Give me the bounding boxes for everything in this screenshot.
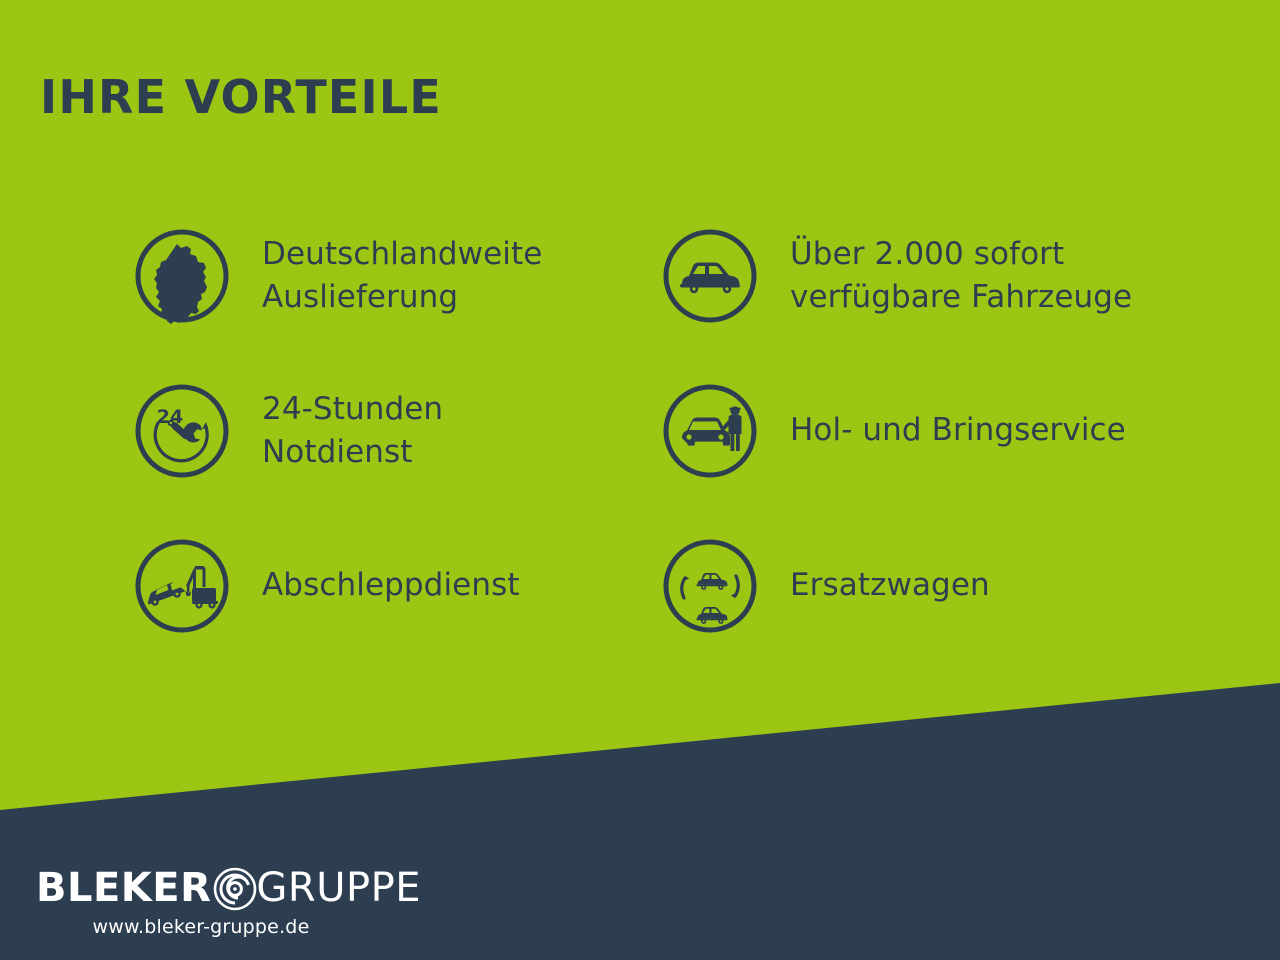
spiral-logo-icon [208,861,262,915]
car-side-icon [660,226,760,326]
slide-canvas: IHRE VORTEILE Deutschlandweite Ausliefer… [0,0,1280,960]
benefit-label-line-1: 24-Stunden [262,391,443,427]
benefit-label-line-1: Über 2.000 sofort [790,236,1064,272]
logo-wordmark: BLEKER GRUPPE [36,864,366,912]
benefit-item-24-stunden-notdienst: 24 24-Stunden Notdienst [132,353,632,508]
logo-primary-text: BLEKER [36,868,211,908]
benefit-label-line-1: Hol- und Bringservice [790,412,1126,448]
clock-24-wrench-icon: 24 [132,381,232,481]
benefit-label: Über 2.000 sofort verfügbare Fahrzeuge [790,233,1132,317]
benefit-label: 24-Stunden Notdienst [262,388,443,472]
car-front-person-icon [660,381,760,481]
two-cars-swap-icon [660,536,760,636]
benefit-label-line-1: Abschleppdienst [262,567,520,603]
benefit-label-line-2: Auslieferung [262,279,458,315]
logo-url[interactable]: www.bleker-gruppe.de [36,916,366,938]
logo-secondary-text: GRUPPE [256,868,421,908]
benefit-label: Abschleppdienst [262,564,520,606]
benefit-item-deutschlandweite-auslieferung: Deutschlandweite Auslieferung [132,198,632,353]
benefit-label-line-2: verfügbare Fahrzeuge [790,279,1132,315]
benefit-item-hol-und-bringservice: Hol- und Bringservice [660,353,1190,508]
benefit-label: Ersatzwagen [790,564,990,606]
benefit-item-abschleppdienst: Abschleppdienst [132,508,632,663]
benefit-label-line-1: Ersatzwagen [790,567,990,603]
benefit-label-line-2: Notdienst [262,434,413,470]
footer-logo[interactable]: BLEKER GRUPPE www.bleker-gruppe.de [36,864,366,938]
page-title: IHRE VORTEILE [40,74,442,120]
benefit-label-line-1: Deutschlandweite [262,236,542,272]
tow-truck-icon [132,536,232,636]
benefit-label: Deutschlandweite Auslieferung [262,233,542,317]
benefit-item-verfuegbare-fahrzeuge: Über 2.000 sofort verfügbare Fahrzeuge [660,198,1190,353]
benefit-item-ersatzwagen: Ersatzwagen [660,508,1190,663]
benefits-grid: Deutschlandweite Auslieferung [132,198,1222,663]
benefit-label: Hol- und Bringservice [790,409,1126,451]
germany-map-icon [132,226,232,326]
